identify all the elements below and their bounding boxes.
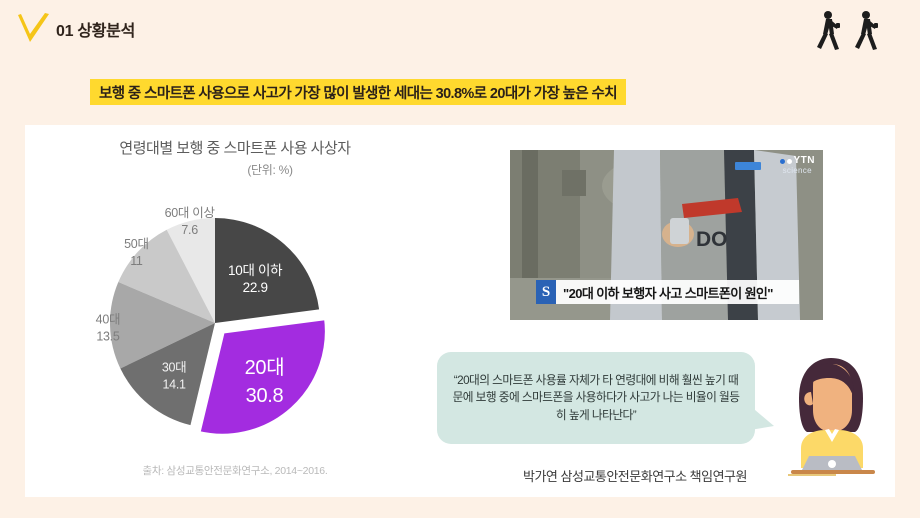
quote-attribution: 박가연 삼성교통안전문화연구소 책임연구원: [470, 466, 800, 485]
walking-pedestrians-icon: [814, 8, 902, 60]
pie-label-30s-name: 30대: [162, 361, 187, 375]
slide-header: 01 상황분석: [16, 12, 135, 46]
pie-label-20s-value: 30.8: [246, 385, 284, 407]
quote-bubble-tail: [748, 404, 774, 434]
check-mark-icon: [16, 12, 52, 46]
ytn-logo: YTN science: [780, 156, 816, 175]
pie-label-50s-value: 11: [130, 254, 143, 268]
woman-at-laptop-illustration: [775, 352, 885, 474]
quote-text: “20대의 스마트폰 사용률 자체가 타 연령대에 비해 훨씬 높기 때문에 보…: [437, 372, 755, 425]
pie-chart: 10대 이하 22.9 20대 30.8 30대 14.1 40대 13.5 5…: [25, 173, 445, 463]
ytn-dot-blue: [780, 159, 785, 164]
svg-text:DO: DO: [696, 228, 728, 251]
caption-initial: S: [536, 280, 556, 304]
page-title: 01 상황분석: [56, 17, 135, 41]
chart-title: 연령대별 보행 중 스마트폰 사용 사상자: [25, 137, 445, 158]
headline-banner: 보행 중 스마트폰 사용으로 사고가 가장 많이 발생한 세대는 30.8%로 …: [90, 79, 626, 105]
pie-label-50s-name: 50대: [124, 237, 149, 251]
pie-label-30s-value: 14.1: [163, 378, 186, 392]
photo-badge: [735, 162, 761, 170]
quote-bubble: “20대의 스마트폰 사용률 자체가 타 연령대에 비해 훨씬 높기 때문에 보…: [437, 352, 755, 444]
pie-chart-block: 연령대별 보행 중 스마트폰 사용 사상자 (단위: %): [25, 125, 445, 497]
attribution-rule: [788, 474, 836, 476]
ytn-logo-sub: science: [783, 167, 812, 175]
pie-label-40s-name: 40대: [96, 313, 121, 327]
ytn-logo-name: YTN: [794, 156, 816, 166]
ytn-dot-white: [787, 159, 792, 164]
pie-label-10under-name: 10대 이하: [228, 263, 283, 278]
news-caption-bar: S "20대 이하 보행자 사고 스마트폰이 원인": [536, 280, 799, 304]
slide-root: 01 상황분석 보행 중 스마트폰 사용으로 사고가 가장 많이 발생한 세대는…: [0, 0, 920, 518]
pie-label-10under-value: 22.9: [243, 280, 268, 295]
news-photo: DO YTN science S "20대 이하 보행자 사고 스마트폰이 원인…: [510, 150, 823, 320]
headline-text: 보행 중 스마트폰 사용으로 사고가 가장 많이 발생한 세대는 30.8%로 …: [99, 82, 617, 103]
pie-label-60plus-name: 60대 이상: [165, 206, 216, 220]
pie-label-40s-value: 13.5: [96, 330, 119, 344]
caption-text: "20대 이하 보행자 사고 스마트폰이 원인": [556, 283, 773, 302]
chart-source-note: 출차: 삼성교통안전문화연구소, 2014~2016.: [25, 463, 445, 478]
pie-label-60plus-value: 7.6: [181, 223, 198, 237]
pie-label-20s-name: 20대: [245, 356, 285, 379]
